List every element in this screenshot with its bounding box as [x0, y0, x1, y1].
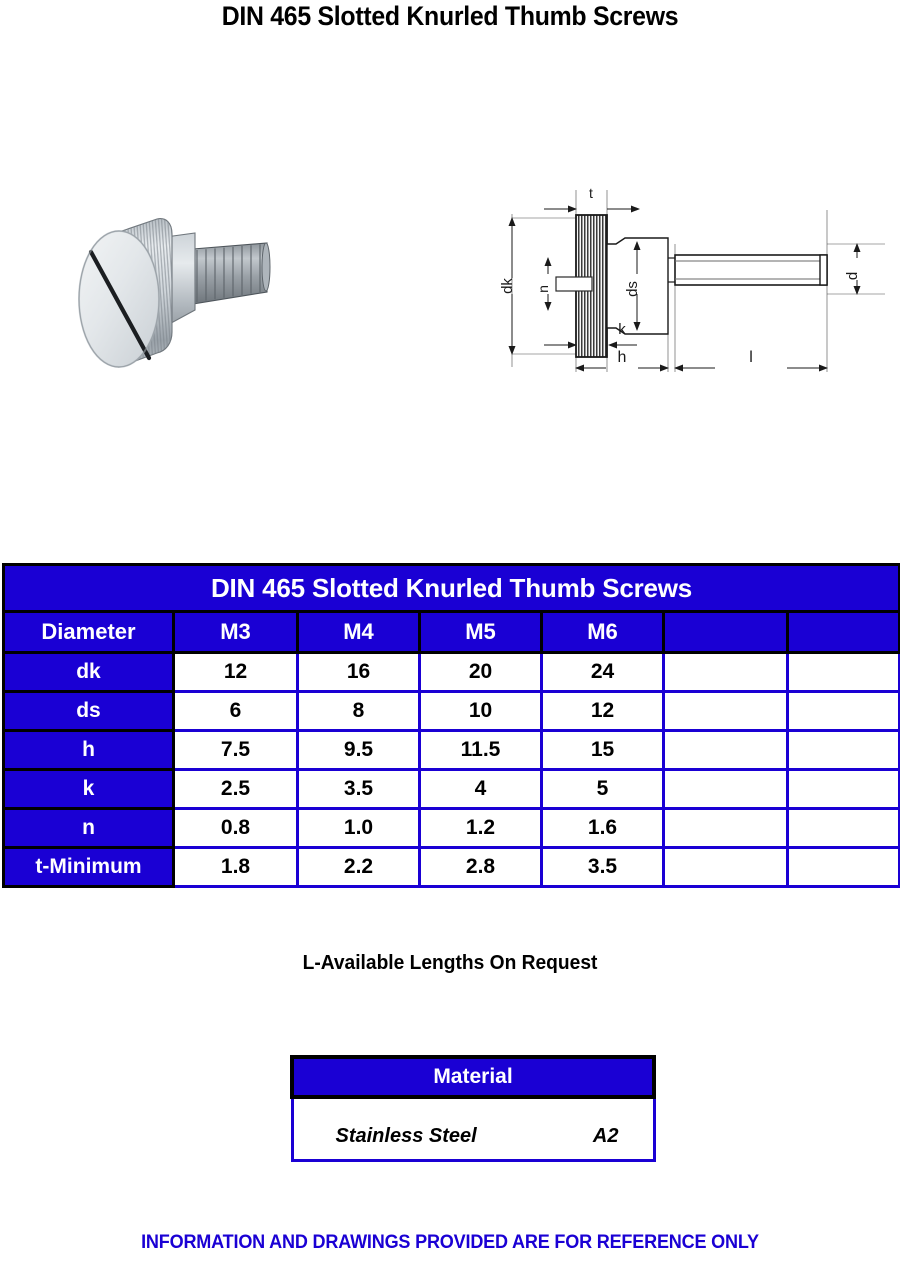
cell-h-m4: 9.5: [298, 731, 420, 770]
cell-t-empty-2: [788, 848, 900, 887]
dimension-label-k: k: [618, 321, 626, 338]
screw-thread-shaft: [193, 243, 270, 304]
material-table: Material Stainless Steel A2: [290, 1055, 656, 1162]
dimension-n: n: [535, 258, 551, 310]
row-label-n: n: [4, 809, 174, 848]
cell-dk-m5: 20: [420, 653, 542, 692]
cell-t-m5: 2.8: [420, 848, 542, 887]
cell-h-empty-1: [664, 731, 788, 770]
spec-table-title: DIN 465 Slotted Knurled Thumb Screws: [4, 565, 900, 612]
material-grade: A2: [593, 1125, 619, 1148]
header-cell-m6: M6: [542, 612, 664, 653]
cell-h-empty-2: [788, 731, 900, 770]
cell-k-empty-1: [664, 770, 788, 809]
header-cell-empty-2: [788, 612, 900, 653]
page-title: DIN 465 Slotted Knurled Thumb Screws: [36, 0, 864, 32]
thumb-screw-3d-render: [45, 212, 295, 387]
cell-dk-empty-2: [788, 653, 900, 692]
header-cell-diameter: Diameter: [4, 612, 174, 653]
header-cell-m5: M5: [420, 612, 542, 653]
cell-dk-m6: 24: [542, 653, 664, 692]
cell-ds-m4: 8: [298, 692, 420, 731]
cell-n-m3: 0.8: [174, 809, 298, 848]
cell-t-empty-1: [664, 848, 788, 887]
dimension-dk: dk: [500, 218, 516, 354]
row-label-ds: ds: [4, 692, 174, 731]
table-row: n 0.8 1.0 1.2 1.6: [4, 809, 900, 848]
row-label-dk: dk: [4, 653, 174, 692]
cell-h-m5: 11.5: [420, 731, 542, 770]
material-name: Stainless Steel: [336, 1125, 477, 1148]
thumb-screw-dimension-drawing: t dk n ds: [500, 182, 890, 402]
material-header-label: Material: [292, 1057, 654, 1097]
material-header-row: Material: [292, 1057, 654, 1097]
cell-h-m6: 15: [542, 731, 664, 770]
cell-t-m4: 2.2: [298, 848, 420, 887]
drawing-knurled-head: [556, 215, 607, 357]
table-row: dk 12 16 20 24: [4, 653, 900, 692]
table-title-row: DIN 465 Slotted Knurled Thumb Screws: [4, 565, 900, 612]
cell-n-empty-1: [664, 809, 788, 848]
cell-ds-m3: 6: [174, 692, 298, 731]
cell-n-m5: 1.2: [420, 809, 542, 848]
reference-only-disclaimer: INFORMATION AND DRAWINGS PROVIDED ARE FO…: [23, 1232, 878, 1254]
cell-k-m3: 2.5: [174, 770, 298, 809]
material-body-row: Stainless Steel A2: [292, 1097, 654, 1161]
cell-dk-m4: 16: [298, 653, 420, 692]
dimension-label-ds: ds: [624, 281, 641, 297]
cell-h-m3: 7.5: [174, 731, 298, 770]
dimension-t: t: [544, 185, 639, 209]
available-lengths-note: L-Available Lengths On Request: [18, 952, 882, 975]
cell-ds-empty-1: [664, 692, 788, 731]
dimension-l: l: [675, 349, 827, 368]
cell-dk-empty-1: [664, 653, 788, 692]
drawing-slot-n: [556, 277, 592, 291]
dimension-label-l: l: [749, 349, 753, 366]
cell-n-m4: 1.0: [298, 809, 420, 848]
cell-k-m6: 5: [542, 770, 664, 809]
dimension-label-n: n: [535, 285, 551, 293]
row-label-h: h: [4, 731, 174, 770]
drawing-thread-shaft: [668, 255, 827, 285]
header-cell-empty-1: [664, 612, 788, 653]
cell-k-m5: 4: [420, 770, 542, 809]
dimension-label-d: d: [844, 272, 861, 280]
cell-t-m6: 3.5: [542, 848, 664, 887]
table-header-row: Diameter M3 M4 M5 M6: [4, 612, 900, 653]
screw-head-face: [79, 231, 159, 367]
cell-ds-empty-2: [788, 692, 900, 731]
row-label-t-minimum: t-Minimum: [4, 848, 174, 887]
cell-t-m3: 1.8: [174, 848, 298, 887]
cell-ds-m6: 12: [542, 692, 664, 731]
header-cell-m4: M4: [298, 612, 420, 653]
dimension-label-dk: dk: [500, 278, 516, 294]
cell-k-m4: 3.5: [298, 770, 420, 809]
dimension-label-h: h: [618, 349, 627, 366]
table-row: h 7.5 9.5 11.5 15: [4, 731, 900, 770]
row-label-k: k: [4, 770, 174, 809]
cell-ds-m5: 10: [420, 692, 542, 731]
illustration-area: t dk n ds: [0, 170, 900, 420]
cell-dk-m3: 12: [174, 653, 298, 692]
cell-n-m6: 1.6: [542, 809, 664, 848]
dimension-label-t: t: [589, 185, 593, 201]
cell-k-empty-2: [788, 770, 900, 809]
cell-n-empty-2: [788, 809, 900, 848]
dimension-d: d: [844, 244, 861, 294]
table-row: ds 6 8 10 12: [4, 692, 900, 731]
table-row: k 2.5 3.5 4 5: [4, 770, 900, 809]
header-cell-m3: M3: [174, 612, 298, 653]
material-body-cell: Stainless Steel A2: [292, 1097, 654, 1161]
specification-table: DIN 465 Slotted Knurled Thumb Screws Dia…: [2, 563, 900, 888]
table-row: t-Minimum 1.8 2.2 2.8 3.5: [4, 848, 900, 887]
